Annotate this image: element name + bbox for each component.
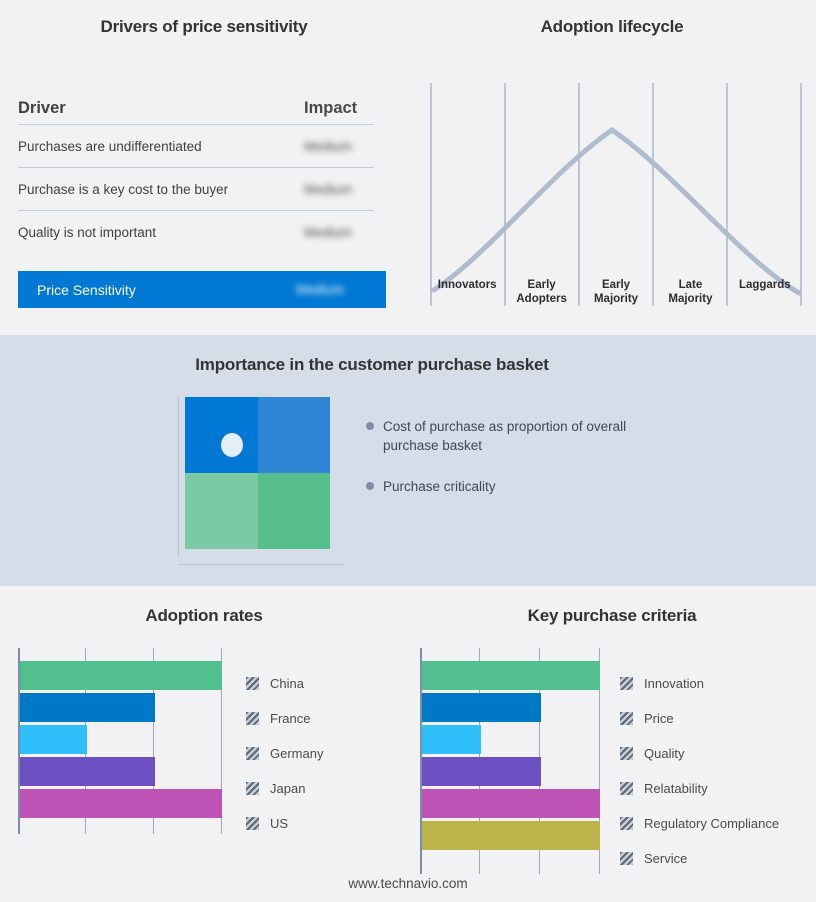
- lifecycle-panel: Adoption lifecycle Innovators Early Adop…: [408, 0, 816, 335]
- adoption-rates-chart: ChinaFranceGermanyJapanUS: [18, 648, 323, 841]
- lifecycle-segment-late-majority: Late Majority: [653, 278, 727, 308]
- table-row: Quality is not important Medium: [18, 211, 374, 253]
- segment-line-2: Majority: [579, 292, 653, 306]
- legend-item-label: Relatability: [644, 781, 708, 796]
- hatch-swatch-icon: [620, 782, 633, 795]
- bar-row: [422, 725, 600, 757]
- bar-row: [20, 789, 222, 821]
- basket-panel-title: Importance in the customer purchase bask…: [0, 355, 744, 375]
- purchase-criteria-chart: InnovationPriceQualityRelatabilityRegula…: [420, 648, 779, 876]
- lifecycle-panel-title: Adoption lifecycle: [408, 17, 816, 37]
- legend-item-label: Regulatory Compliance: [644, 816, 779, 831]
- driver-label: Purchase is a key cost to the buyer: [18, 182, 228, 197]
- quadrant-grid: [185, 397, 330, 549]
- driver-label: Quality is not important: [18, 225, 156, 240]
- lifecycle-segment-laggards: Laggards: [728, 278, 802, 308]
- legend-item-japan: Japan: [246, 771, 323, 806]
- quadrant-cell-top-right: [258, 397, 331, 473]
- adoption-rates-panel: Adoption rates ChinaFranceGermanyJapanUS: [0, 586, 408, 902]
- quadrant-cell-bottom-right: [258, 473, 331, 549]
- adoption-legend: ChinaFranceGermanyJapanUS: [246, 648, 323, 841]
- hatch-swatch-icon: [620, 677, 633, 690]
- impact-value: Medium: [304, 139, 374, 154]
- lifecycle-segment-innovators: Innovators: [430, 278, 504, 308]
- legend-item-label: Price: [644, 711, 674, 726]
- legend-item-innovation: Innovation: [620, 666, 779, 701]
- impact-value: Medium: [304, 225, 374, 240]
- purchase-criteria-title: Key purchase criteria: [408, 606, 816, 626]
- legend-item-china: China: [246, 666, 323, 701]
- bar-regulatory-compliance: [422, 789, 600, 818]
- legend-item-label: Japan: [270, 781, 305, 796]
- legend-item-label: US: [270, 816, 288, 831]
- hatch-swatch-icon: [246, 782, 259, 795]
- criteria-bar-rows: [422, 648, 600, 874]
- bar-row: [20, 693, 222, 725]
- legend-item-label: China: [270, 676, 304, 691]
- bar-japan: [20, 757, 155, 786]
- legend-item-germany: Germany: [246, 736, 323, 771]
- hatch-swatch-icon: [246, 712, 259, 725]
- legend-item-label: France: [270, 711, 310, 726]
- legend-item-quality: Quality: [620, 736, 779, 771]
- lifecycle-chart: Innovators Early Adopters Early Majority…: [430, 78, 802, 308]
- adoption-bar-rows: [20, 648, 222, 834]
- bar-germany: [20, 725, 87, 754]
- lifecycle-segment-early-adopters: Early Adopters: [504, 278, 578, 308]
- segment-line-1: Early: [504, 278, 578, 292]
- bar-top-spacer: [422, 648, 600, 661]
- lifecycle-curve-svg: [430, 78, 802, 308]
- hatch-swatch-icon: [620, 852, 633, 865]
- basket-legend: Cost of purchase as proportion of overal…: [366, 417, 666, 518]
- legend-item-price: Price: [620, 701, 779, 736]
- hatch-swatch-icon: [620, 712, 633, 725]
- bar-france: [20, 693, 155, 722]
- bar-innovation: [422, 661, 600, 690]
- price-sensitivity-label: Price Sensitivity: [37, 282, 136, 298]
- segment-line-2: Adopters: [504, 292, 578, 306]
- legend-item-us: US: [246, 806, 323, 841]
- adoption-rates-title: Adoption rates: [0, 606, 408, 626]
- driver-label: Purchases are undifferentiated: [18, 139, 202, 154]
- column-header-impact: Impact: [304, 99, 374, 118]
- legend-item-label: Service: [644, 851, 687, 866]
- column-header-driver: Driver: [18, 99, 66, 118]
- segment-line-2: Laggards: [728, 278, 802, 292]
- purchase-criteria-panel: Key purchase criteria InnovationPriceQua…: [408, 586, 816, 902]
- hatch-swatch-icon: [246, 817, 259, 830]
- hatch-swatch-icon: [620, 817, 633, 830]
- bar-china: [20, 661, 222, 690]
- lifecycle-segment-labels: Innovators Early Adopters Early Majority…: [430, 278, 802, 308]
- legend-item-relatability: Relatability: [620, 771, 779, 806]
- legend-item-label: Purchase criticality: [383, 477, 496, 496]
- drivers-panel: Drivers of price sensitivity Driver Impa…: [0, 0, 408, 335]
- bar-quality: [422, 725, 481, 754]
- bullet-icon: [366, 482, 374, 490]
- bar-row: [422, 757, 600, 789]
- hatch-swatch-icon: [246, 747, 259, 760]
- adoption-bell-curve: [434, 130, 799, 293]
- segment-line-2: Innovators: [430, 278, 504, 292]
- bullet-icon: [366, 422, 374, 430]
- price-sensitivity-summary-row: Price Sensitivity Medium: [18, 271, 386, 308]
- lifecycle-segment-early-majority: Early Majority: [579, 278, 653, 308]
- segment-line-2: Majority: [653, 292, 727, 306]
- lifecycle-gridlines: [431, 83, 801, 306]
- hatch-swatch-icon: [620, 747, 633, 760]
- legend-item-purchase-criticality: Purchase criticality: [366, 477, 666, 496]
- bar-us: [20, 789, 222, 818]
- purchase-criteria-plot: [420, 648, 600, 874]
- legend-item-france: France: [246, 701, 323, 736]
- quadrant-cell-top-left: [185, 397, 258, 473]
- legend-item-label: Quality: [644, 746, 684, 761]
- legend-item-label: Cost of purchase as proportion of overal…: [383, 417, 643, 455]
- legend-item-label: Germany: [270, 746, 323, 761]
- bar-service: [422, 821, 600, 850]
- footer-website-url: www.technavio.com: [0, 876, 816, 891]
- bar-top-spacer: [20, 648, 222, 661]
- bar-row: [20, 661, 222, 693]
- quadrant-x-axis: [178, 564, 344, 565]
- bar-row: [422, 693, 600, 725]
- table-header-row: Driver Impact: [18, 92, 374, 125]
- drivers-table: Driver Impact Purchases are undifferenti…: [18, 92, 374, 253]
- bar-row: [422, 789, 600, 821]
- price-sensitivity-value: Medium: [296, 282, 366, 297]
- basket-quadrant-chart: [178, 397, 338, 565]
- basket-panel: Importance in the customer purchase bask…: [0, 335, 816, 586]
- bar-relatability: [422, 757, 541, 786]
- hatch-swatch-icon: [246, 677, 259, 690]
- table-row: Purchase is a key cost to the buyer Medi…: [18, 168, 374, 211]
- bar-row: [20, 725, 222, 757]
- quadrant-cell-bottom-left: [185, 473, 258, 549]
- bar-row: [422, 661, 600, 693]
- legend-item-label: Innovation: [644, 676, 704, 691]
- bar-price: [422, 693, 541, 722]
- criteria-legend: InnovationPriceQualityRelatabilityRegula…: [620, 648, 779, 876]
- segment-line-1: Early: [579, 278, 653, 292]
- table-row: Purchases are undifferentiated Medium: [18, 125, 374, 168]
- segment-line-1: Late: [653, 278, 727, 292]
- quadrant-y-axis: [178, 397, 179, 557]
- impact-value: Medium: [304, 182, 374, 197]
- quadrant-position-marker: [221, 433, 243, 457]
- drivers-panel-title: Drivers of price sensitivity: [0, 17, 408, 37]
- bar-row: [422, 821, 600, 853]
- legend-item-cost-of-purchase: Cost of purchase as proportion of overal…: [366, 417, 666, 455]
- legend-item-service: Service: [620, 841, 779, 876]
- legend-item-regulatory-compliance: Regulatory Compliance: [620, 806, 779, 841]
- bar-row: [20, 757, 222, 789]
- adoption-rates-plot: [18, 648, 222, 834]
